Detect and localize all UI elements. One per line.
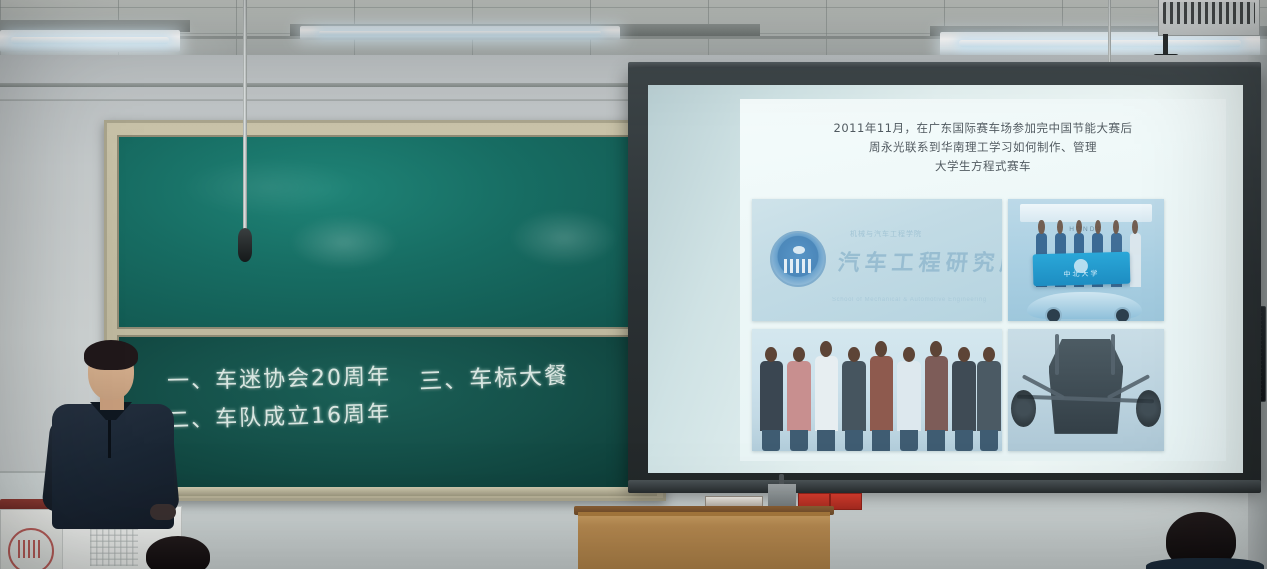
lamp-tube — [959, 40, 1241, 47]
chalk-smudge — [509, 209, 619, 267]
group-person — [760, 361, 784, 432]
group-person — [977, 361, 1001, 432]
presenter-hair — [84, 340, 138, 370]
audience-shoulder — [1146, 558, 1264, 569]
screen-surface: 2011年11月，在广东国际赛车场参加完中国节能大赛后 周永光联系到华南理工学习… — [648, 85, 1243, 473]
car-wheel — [1136, 390, 1161, 427]
slide-title-line-2: 周永光联系到华南理工学习如何制作、管理 — [740, 138, 1226, 157]
classroom-scene: 一、车迷协会20周年 二、车队成立16周年 三、车标大餐 2011年11月，在广… — [0, 0, 1267, 569]
university-sign-photo: 机械与汽车工程学院 汽车工程研究所 School of Mechanical &… — [752, 199, 1002, 321]
hanging-microphone-rod — [243, 0, 247, 236]
slide-title-line-3: 大学生方程式赛车 — [740, 157, 1226, 176]
eco-car-wheel — [1114, 307, 1131, 321]
group-person — [842, 361, 866, 432]
eco-car-wheel — [1045, 307, 1062, 321]
projector-pole — [1163, 34, 1168, 56]
group-person — [897, 361, 921, 432]
sign-english-text: School of Mechanical & Automotive Engine… — [832, 297, 987, 303]
blackboard-upper-panel — [117, 135, 657, 329]
presenter-hand — [150, 504, 176, 520]
chalk-line-1: 一、车迷协会20周年 — [167, 359, 392, 396]
slide-title: 2011年11月，在广东国际赛车场参加完中国节能大赛后 周永光联系到华南理工学习… — [740, 119, 1226, 176]
sign-calligraphy: 汽车工程研究所 — [836, 245, 1002, 277]
chassis-tube — [1055, 334, 1059, 375]
car-wheel — [1011, 390, 1036, 427]
chalk-line-3: 三、车标大餐 — [418, 356, 569, 396]
chalk-smudge — [179, 157, 359, 217]
group-person — [952, 361, 976, 432]
screen-bottom-bar — [628, 480, 1261, 493]
ceiling-projector — [1158, 0, 1260, 36]
hanging-microphone — [238, 228, 252, 262]
lamp-tube — [11, 37, 169, 44]
presentation-slide: 2011年11月，在广东国际赛车场参加完中国节能大赛后 周永光联系到华南理工学习… — [740, 99, 1226, 461]
projection-screen: 2011年11月，在广东国际赛车场参加完中国节能大赛后 周永光联系到华南理工学习… — [628, 68, 1261, 488]
slide-title-line-1: 2011年11月，在广东国际赛车场参加完中国节能大赛后 — [740, 119, 1226, 138]
ceiling-lamp-1 — [0, 30, 180, 52]
presenter-shirt-placket — [108, 416, 111, 458]
blackboard: 一、车迷协会20周年 二、车队成立16周年 三、车标大餐 — [104, 120, 666, 501]
desk-red-box — [830, 493, 862, 510]
team-person — [1130, 233, 1141, 287]
lamp-tube — [319, 31, 601, 35]
group-person — [870, 356, 894, 432]
blackboard-lower-panel: 一、车迷协会20周年 二、车队成立16周年 三、车标大餐 — [117, 335, 657, 491]
chalk-smudge — [289, 215, 399, 270]
chalk-ledge — [113, 487, 657, 496]
group-person — [925, 356, 949, 432]
group-photo — [752, 329, 1002, 451]
banner-text: 中北大学 — [1033, 268, 1130, 281]
race-car-chassis-photo — [1008, 329, 1164, 451]
group-person — [815, 356, 839, 432]
team-banner: 中北大学 — [1033, 251, 1131, 285]
team-banner-photo: HONDA 中北大学 — [1008, 199, 1164, 321]
presenter: speaker-at-podium — [40, 344, 180, 569]
projector-detail — [1163, 2, 1255, 24]
ceiling-lamp-2 — [300, 26, 620, 40]
front-desk — [578, 512, 830, 569]
desk-gray-box — [768, 484, 796, 507]
audience-head — [146, 536, 210, 569]
university-emblem-icon — [770, 231, 826, 287]
chalk-line-2: 二、车队成立16周年 — [167, 395, 392, 434]
honda-sign-text: HONDA — [1008, 226, 1164, 233]
chassis-tube — [1111, 334, 1115, 375]
sign-top-text: 机械与汽车工程学院 — [850, 229, 922, 239]
emblem-dot — [793, 246, 805, 254]
group-person — [787, 361, 811, 432]
